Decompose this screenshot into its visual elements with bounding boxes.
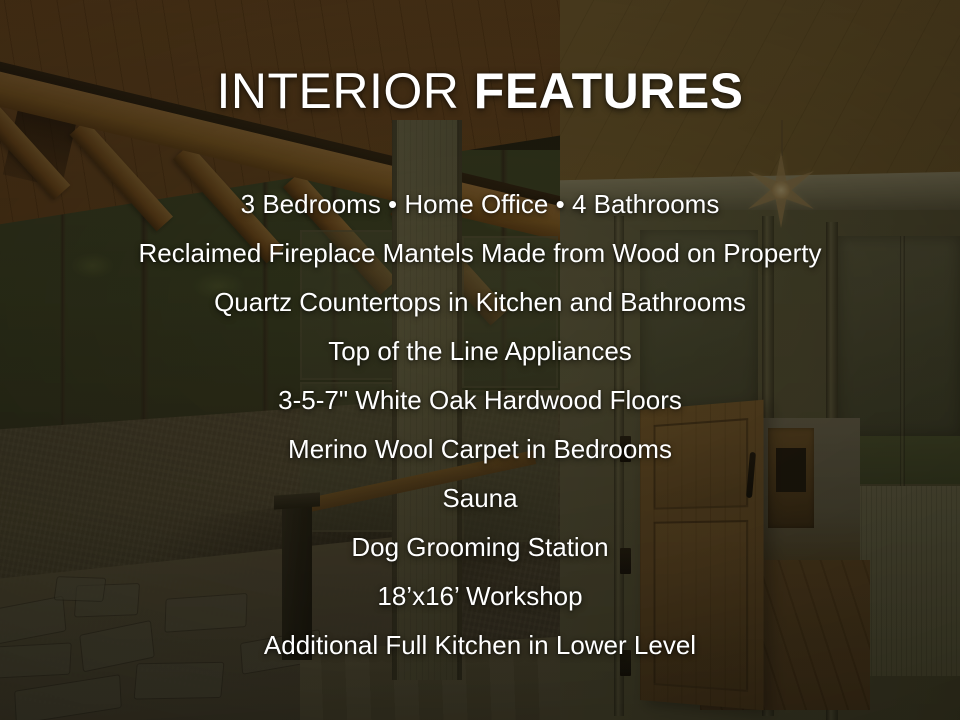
slide-content: INTERIOR FEATURES 3 Bedrooms • Home Offi… [0,0,960,720]
list-item: Reclaimed Fireplace Mantels Made from Wo… [0,229,960,278]
title-light-word: INTERIOR [216,63,459,119]
list-item: 3 Bedrooms • Home Office • 4 Bathrooms [0,180,960,229]
list-item: 3-5-7" White Oak Hardwood Floors [0,376,960,425]
list-item: Additional Full Kitchen in Lower Level [0,621,960,670]
feature-list: 3 Bedrooms • Home Office • 4 Bathrooms R… [0,180,960,670]
list-item: Quartz Countertops in Kitchen and Bathro… [0,278,960,327]
slide-canvas: INTERIOR FEATURES 3 Bedrooms • Home Offi… [0,0,960,720]
list-item: 18’x16’ Workshop [0,572,960,621]
list-item: Sauna [0,474,960,523]
page-title: INTERIOR FEATURES [216,66,743,116]
list-item: Merino Wool Carpet in Bedrooms [0,425,960,474]
list-item: Top of the Line Appliances [0,327,960,376]
title-bold-word: FEATURES [474,63,744,119]
list-item: Dog Grooming Station [0,523,960,572]
